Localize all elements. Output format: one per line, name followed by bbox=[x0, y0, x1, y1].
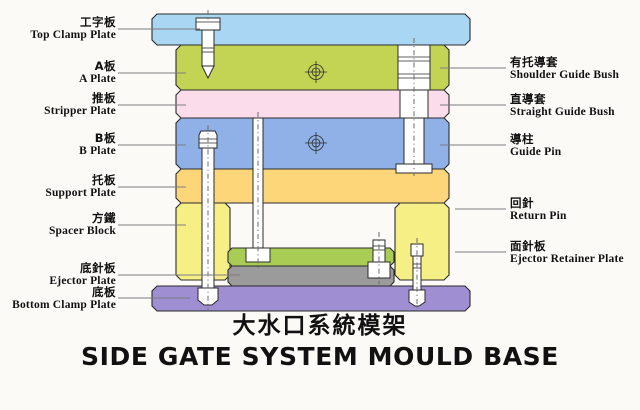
label-stripper-plate: 推板 Stripper Plate bbox=[0, 92, 116, 118]
label-guide-pin-en: Guide Pin bbox=[510, 146, 561, 159]
label-return-pin: 回針 Return Pin bbox=[510, 197, 567, 223]
diagram-title-en: SIDE GATE SYSTEM MOULD BASE bbox=[0, 342, 640, 372]
label-ejector-retainer-plate: 面針板 Ejector Retainer Plate bbox=[510, 240, 624, 266]
label-spacer-block-en: Spacer Block bbox=[0, 225, 116, 238]
label-bottom-clamp-plate-cn: 底板 bbox=[0, 286, 116, 299]
label-straight-guide-bush-cn: 直導套 bbox=[510, 93, 615, 106]
leader-lines-right bbox=[440, 68, 506, 252]
label-top-clamp-plate-en: Top Clamp Plate bbox=[0, 29, 116, 42]
label-straight-guide-bush-en: Straight Guide Bush bbox=[510, 106, 615, 119]
label-ejector-plate-cn: 底針板 bbox=[0, 262, 116, 275]
label-guide-pin: 導柱 Guide Pin bbox=[510, 133, 561, 159]
label-ejector-retainer-plate-en: Ejector Retainer Plate bbox=[510, 253, 624, 266]
label-support-plate: 托板 Support Plate bbox=[0, 174, 116, 200]
label-top-clamp-plate-cn: 工字板 bbox=[0, 16, 116, 29]
label-shoulder-guide-bush-en: Shoulder Guide Bush bbox=[510, 69, 619, 82]
label-top-clamp-plate: 工字板 Top Clamp Plate bbox=[0, 16, 116, 42]
label-return-pin-en: Return Pin bbox=[510, 210, 567, 223]
spacer-block-right bbox=[395, 203, 449, 280]
label-ejector-retainer-plate-cn: 面針板 bbox=[510, 240, 624, 253]
plate-support bbox=[176, 169, 449, 203]
label-a-plate: A板 A Plate bbox=[0, 60, 116, 86]
diagram-canvas: .pl{stroke:#2b2b2b;stroke-width:1.1;} .m… bbox=[0, 0, 640, 410]
label-stripper-plate-en: Stripper Plate bbox=[0, 105, 116, 118]
diagram-title: 大水口系統模架 SIDE GATE SYSTEM MOULD BASE bbox=[0, 312, 640, 372]
label-bottom-clamp-plate-en: Bottom Clamp Plate bbox=[0, 299, 116, 312]
label-shoulder-guide-bush: 有托導套 Shoulder Guide Bush bbox=[510, 56, 619, 82]
diagram-title-cn: 大水口系統模架 bbox=[0, 312, 640, 340]
label-support-plate-cn: 托板 bbox=[0, 174, 116, 187]
label-b-plate-en: B Plate bbox=[0, 145, 116, 158]
screw-shank-long bbox=[202, 148, 214, 288]
label-spacer-block-cn: 方鐵 bbox=[0, 212, 116, 225]
label-b-plate-cn: B板 bbox=[0, 132, 116, 145]
retainer-screw-shank bbox=[413, 256, 421, 290]
label-a-plate-en: A Plate bbox=[0, 73, 116, 86]
label-bottom-clamp-plate: 底板 Bottom Clamp Plate bbox=[0, 286, 116, 312]
screw-head-top bbox=[196, 18, 220, 30]
label-stripper-plate-cn: 推板 bbox=[0, 92, 116, 105]
label-a-plate-cn: A板 bbox=[0, 60, 116, 73]
label-guide-pin-cn: 導柱 bbox=[510, 133, 561, 146]
label-b-plate: B板 B Plate bbox=[0, 132, 116, 158]
label-shoulder-guide-bush-cn: 有托導套 bbox=[510, 56, 619, 69]
label-support-plate-en: Support Plate bbox=[0, 187, 116, 200]
label-return-pin-cn: 回針 bbox=[510, 197, 567, 210]
label-spacer-block: 方鐵 Spacer Block bbox=[0, 212, 116, 238]
label-straight-guide-bush: 直導套 Straight Guide Bush bbox=[510, 93, 615, 119]
